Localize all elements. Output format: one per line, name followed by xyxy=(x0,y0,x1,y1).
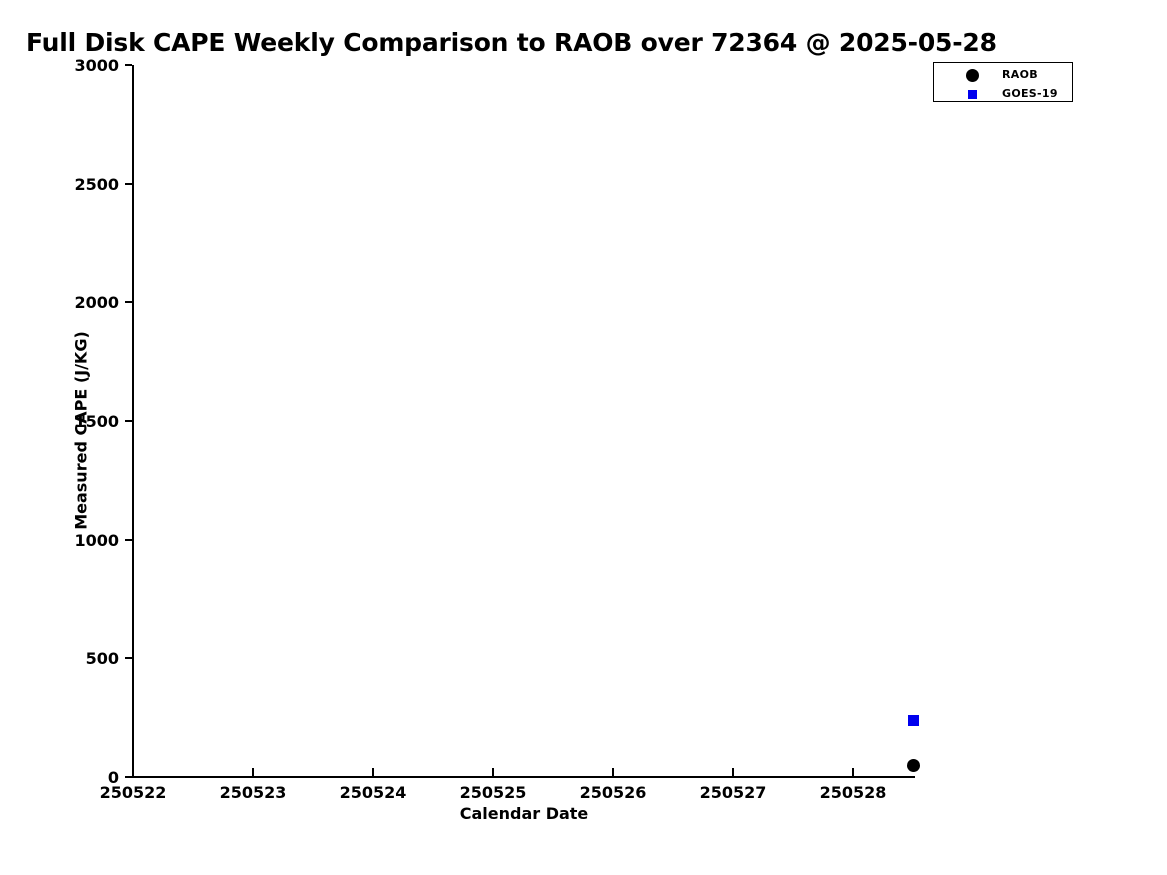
x-axis-tick-label: 250527 xyxy=(673,783,793,802)
y-axis-tick-label: 1000 xyxy=(3,531,119,550)
y-axis-label: Measured CAPE (J/KG) xyxy=(72,331,91,531)
y-axis-tick xyxy=(125,539,132,541)
x-axis-tick-label: 250526 xyxy=(553,783,673,802)
chart-title: Full Disk CAPE Weekly Comparison to RAOB… xyxy=(26,28,997,57)
y-axis-tick-label: 2500 xyxy=(3,175,119,194)
chart-figure: Full Disk CAPE Weekly Comparison to RAOB… xyxy=(0,0,1167,875)
y-axis-tick xyxy=(125,657,132,659)
data-point-goes-19 xyxy=(908,715,919,726)
legend-marker-circle-icon xyxy=(966,69,979,82)
x-axis-tick-label: 250523 xyxy=(193,783,313,802)
y-axis-tick-label: 500 xyxy=(3,649,119,668)
legend-marker-square-icon xyxy=(968,90,977,99)
y-axis-tick-label: 3000 xyxy=(3,56,119,75)
y-axis-tick-label: 1500 xyxy=(3,412,119,431)
chart-legend: RAOBGOES-19 xyxy=(933,62,1073,102)
y-axis-tick xyxy=(125,301,132,303)
data-point-raob xyxy=(907,759,920,772)
y-axis-tick xyxy=(125,420,132,422)
y-axis-tick xyxy=(125,183,132,185)
legend-label: GOES-19 xyxy=(1002,87,1058,100)
y-axis-tick-label: 2000 xyxy=(3,293,119,312)
legend-label: RAOB xyxy=(1002,68,1038,81)
x-axis-label: Calendar Date xyxy=(133,804,915,823)
legend-entry-goes-19: GOES-19 xyxy=(934,84,1072,104)
y-axis-tick xyxy=(125,64,132,66)
x-axis-tick-label: 250525 xyxy=(433,783,553,802)
legend-entry-raob: RAOB xyxy=(934,65,1072,85)
plot-area xyxy=(133,65,915,777)
y-axis-tick xyxy=(125,776,132,778)
x-axis-tick-label: 250524 xyxy=(313,783,433,802)
x-axis-tick-label: 250528 xyxy=(793,783,913,802)
x-axis-tick-label: 250522 xyxy=(73,783,193,802)
